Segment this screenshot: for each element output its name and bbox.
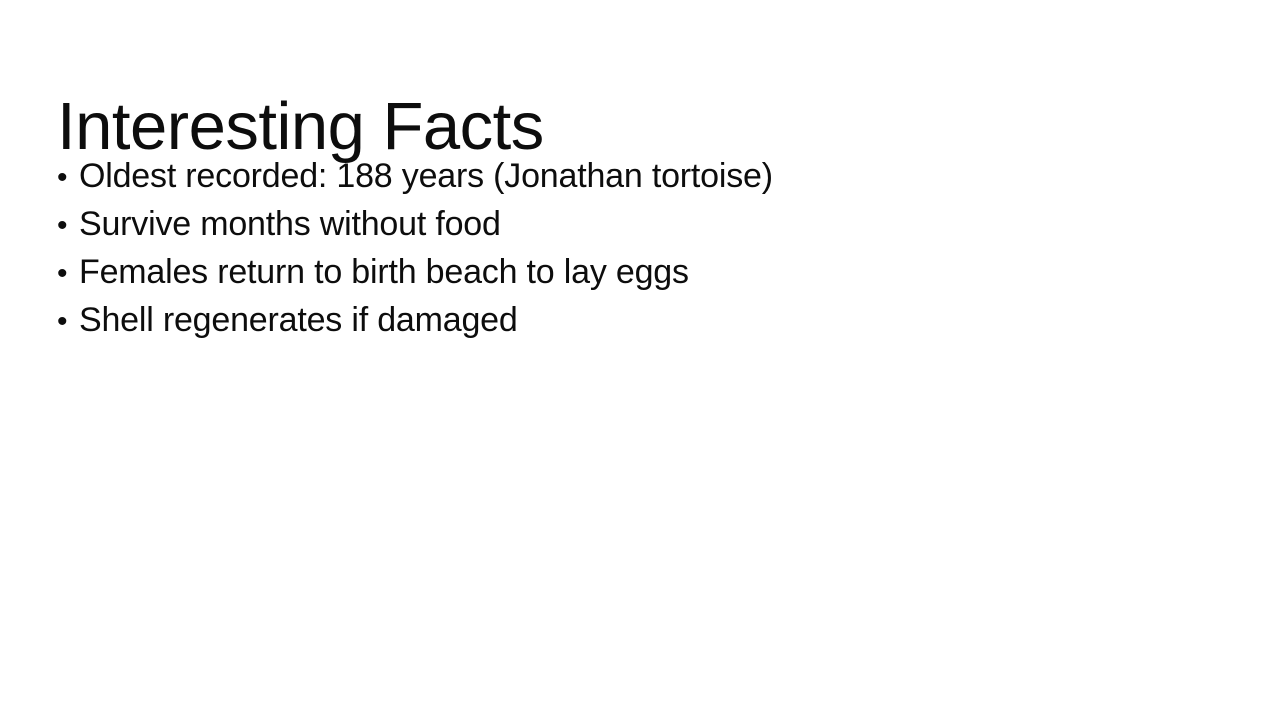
list-item: • Survive months without food bbox=[57, 200, 1217, 248]
list-item: • Females return to birth beach to lay e… bbox=[57, 248, 1217, 296]
list-item-label: Shell regenerates if damaged bbox=[79, 296, 518, 344]
bullet-dot-icon: • bbox=[57, 250, 79, 298]
list-item-label: Survive months without food bbox=[79, 200, 501, 248]
list-item-label: Oldest recorded: 188 years (Jonathan tor… bbox=[79, 152, 773, 200]
page-title: Interesting Facts bbox=[57, 93, 544, 160]
bullet-list: • Oldest recorded: 188 years (Jonathan t… bbox=[57, 152, 1217, 344]
list-item-label: Females return to birth beach to lay egg… bbox=[79, 248, 689, 296]
bullet-dot-icon: • bbox=[57, 298, 79, 346]
bullet-dot-icon: • bbox=[57, 202, 79, 250]
list-item: • Oldest recorded: 188 years (Jonathan t… bbox=[57, 152, 1217, 200]
bullet-dot-icon: • bbox=[57, 154, 79, 202]
list-item: • Shell regenerates if damaged bbox=[57, 296, 1217, 344]
slide-canvas: Interesting Facts • Oldest recorded: 188… bbox=[0, 0, 1280, 720]
